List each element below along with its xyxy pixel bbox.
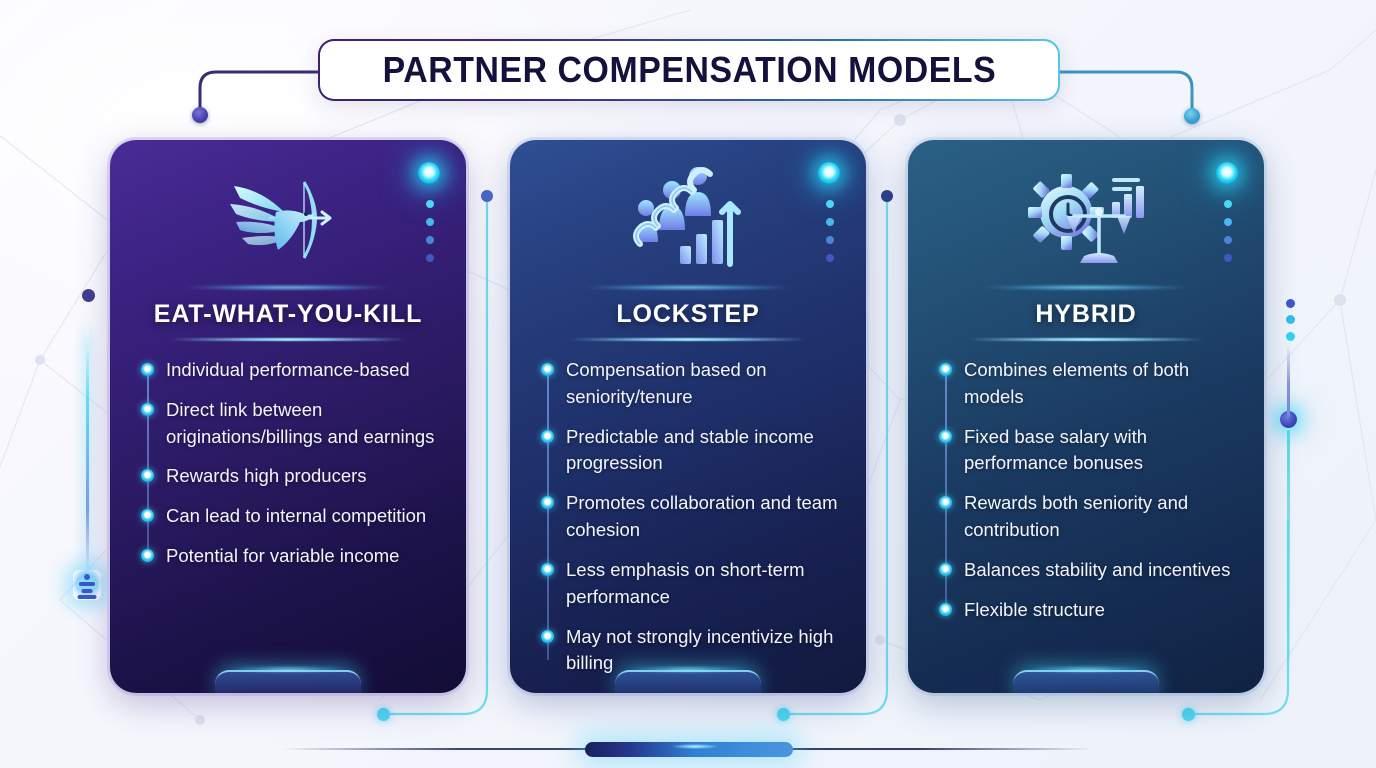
right-mini-dot-3 xyxy=(1286,332,1295,341)
page-title-pill: PARTNER COMPENSATION MODELS xyxy=(318,39,1060,101)
card-action-bar[interactable] xyxy=(1013,670,1159,693)
icon-glow-divider xyxy=(981,285,1191,290)
card-hybrid[interactable]: HYBRID Combines elements of both models … xyxy=(908,140,1264,693)
bottom-node-1 xyxy=(377,708,390,721)
list-item: Direct link between originations/billing… xyxy=(140,397,444,451)
list-item: Balances stability and incentives xyxy=(938,557,1242,584)
right-glow-rail-upper xyxy=(1287,345,1290,417)
icon-glow-divider xyxy=(583,285,793,290)
card-title-rule xyxy=(570,338,806,341)
card-title: EAT-WHAT-YOU-KILL xyxy=(110,300,466,329)
list-item: Promotes collaboration and team cohesion xyxy=(540,490,844,544)
falcon-bow-arrow-icon xyxy=(226,164,350,276)
card-icon-area xyxy=(510,154,866,286)
footer-progress-indicator[interactable] xyxy=(585,742,793,757)
bottom-node-2 xyxy=(777,708,790,721)
list-item: Can lead to internal competition xyxy=(140,503,444,530)
card-title: LOCKSTEP xyxy=(510,300,866,329)
header-right-node xyxy=(1184,108,1200,124)
list-item: Compensation based on seniority/tenure xyxy=(540,357,844,411)
card-title: HYBRID xyxy=(908,300,1264,329)
card-lockstep[interactable]: LOCKSTEP Compensation based on seniority… xyxy=(510,140,866,693)
right-glow-rail-lower xyxy=(1287,430,1290,660)
list-item: Rewards both seniority and contribution xyxy=(938,490,1242,544)
list-item: Individual performance-based xyxy=(140,357,444,384)
card-title-rule xyxy=(170,338,406,341)
gap-node-1 xyxy=(481,190,493,202)
right-mini-dot-2 xyxy=(1286,315,1295,324)
gear-scales-chart-icon xyxy=(1024,164,1148,276)
card-action-bar[interactable] xyxy=(215,670,361,693)
card-icon-area xyxy=(908,154,1264,286)
left-rail-node xyxy=(82,289,95,302)
gap-node-2 xyxy=(881,190,893,202)
card-bullet-list: Individual performance-based Direct link… xyxy=(110,357,466,570)
right-mini-dot-1 xyxy=(1286,299,1295,308)
list-item: Less emphasis on short-term performance xyxy=(540,557,844,611)
card-bullet-list: Compensation based on seniority/tenure P… xyxy=(510,357,866,677)
team-chain-growth-chart-icon xyxy=(626,164,750,276)
left-glow-rail xyxy=(86,330,89,580)
list-item: Predictable and stable income progressio… xyxy=(540,424,844,478)
card-title-rule xyxy=(968,338,1204,341)
list-item: Flexible structure xyxy=(938,597,1242,624)
page-title: PARTNER COMPENSATION MODELS xyxy=(382,49,996,91)
left-emblem-icon xyxy=(73,570,101,600)
card-bullet-list: Combines elements of both models Fixed b… xyxy=(908,357,1264,624)
list-item: Potential for variable income xyxy=(140,543,444,570)
icon-glow-divider xyxy=(183,285,393,290)
list-item: Fixed base salary with performance bonus… xyxy=(938,424,1242,478)
card-eat-what-you-kill[interactable]: EAT-WHAT-YOU-KILL Individual performance… xyxy=(110,140,466,693)
card-icon-area xyxy=(110,154,466,286)
list-item: Combines elements of both models xyxy=(938,357,1242,411)
header-left-node xyxy=(192,107,208,123)
card-action-bar[interactable] xyxy=(615,670,761,693)
bottom-node-3 xyxy=(1182,708,1195,721)
list-item: Rewards high producers xyxy=(140,463,444,490)
